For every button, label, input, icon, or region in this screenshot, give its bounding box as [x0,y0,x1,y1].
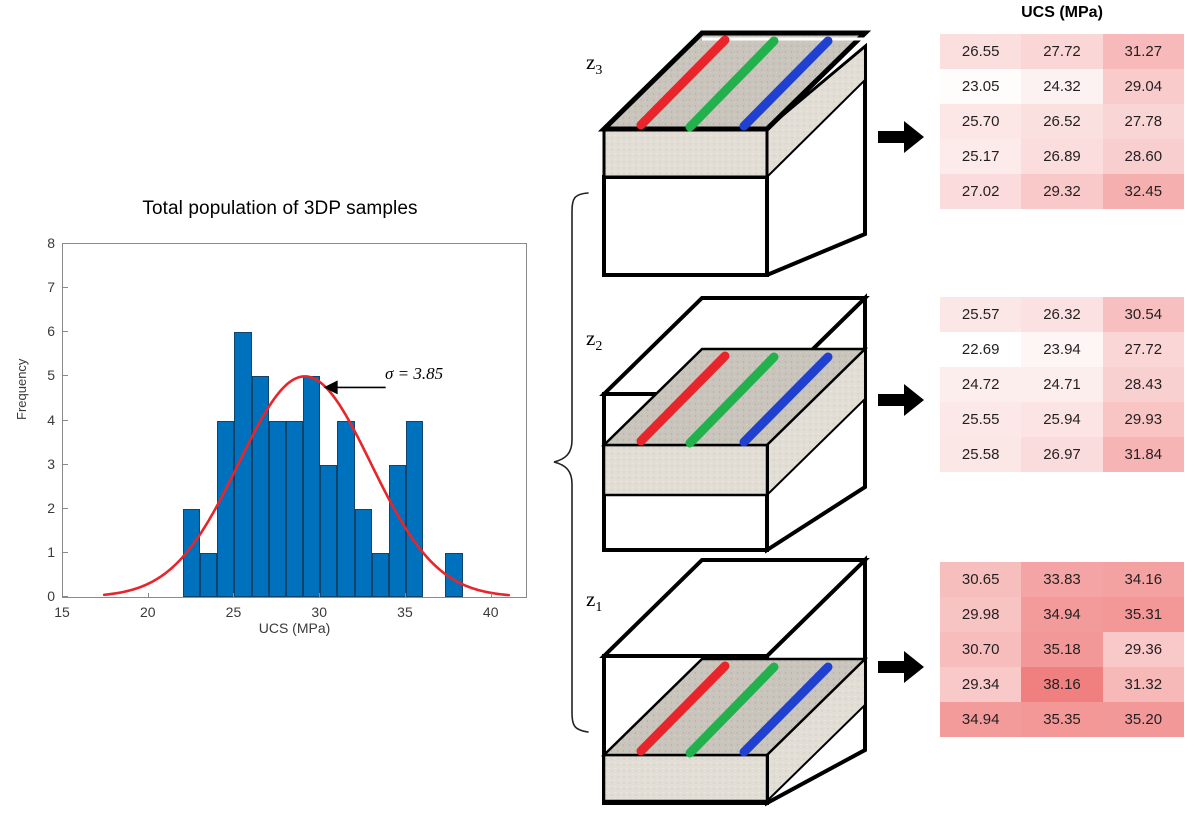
table-row: 34.9435.3535.20 [940,702,1184,737]
ucs-cell: 29.98 [940,597,1021,632]
y-tick-mark [63,508,68,509]
ucs-cell: 26.55 [940,34,1021,69]
x-tick-label: 35 [397,604,413,620]
ucs-cell: 23.05 [940,69,1021,104]
block-z1: z1 [580,545,900,820]
x-tick-mark [319,593,320,598]
ucs-cell: 34.94 [940,702,1021,737]
table-row: 22.6923.9427.72 [940,332,1184,367]
y-tick-label: 5 [27,367,55,383]
ucs-cell: 25.58 [940,437,1021,472]
ucs-cell: 29.32 [1021,174,1102,209]
x-tick-label: 20 [140,604,156,620]
flow-arrow-z3 [878,120,924,154]
x-tick-mark [62,593,63,598]
ucs-table-header: UCS (MPa) [940,4,1184,22]
table-row: 24.7224.7128.43 [940,367,1184,402]
table-row: 30.7035.1829.36 [940,632,1184,667]
table-row: 30.6533.8334.16 [940,562,1184,597]
ucs-cell: 38.16 [1021,667,1102,702]
y-tick-label: 0 [27,588,55,604]
table-row: 25.5726.3230.54 [940,297,1184,332]
table-row: 29.3438.1631.32 [940,667,1184,702]
y-tick-mark [63,331,68,332]
ucs-cell: 26.32 [1021,297,1102,332]
x-tick-mark [405,593,406,598]
ucs-cell: 25.55 [940,402,1021,437]
ucs-cell: 27.72 [1103,332,1184,367]
y-tick-mark [63,375,68,376]
ucs-cell: 26.52 [1021,104,1102,139]
sigma-value-label: σ = 3.85 [385,364,443,384]
ucs-cell: 29.04 [1103,69,1184,104]
ucs-cell: 31.32 [1103,667,1184,702]
table-row: 26.5527.7231.27 [940,34,1184,69]
ucs-cell: 25.70 [940,104,1021,139]
ucs-cell: 35.31 [1103,597,1184,632]
ucs-cell: 29.93 [1103,402,1184,437]
x-tick-label: 30 [311,604,327,620]
block-z3-label-text: z [586,50,595,74]
ucs-cell: 27.72 [1021,34,1102,69]
ucs-cell: 32.45 [1103,174,1184,209]
ucs-cell: 22.69 [940,332,1021,367]
y-tick-label: 2 [27,500,55,516]
ucs-table-z1: 30.6533.8334.1629.9834.9435.3130.7035.18… [940,562,1184,737]
sigma-annotation-arrow [63,244,526,597]
ucs-cell: 30.65 [940,562,1021,597]
block-z3-label-sub: 3 [595,63,602,78]
chart-title: Total population of 3DP samples [0,198,560,220]
x-tick-mark [233,593,234,598]
ucs-cell: 34.16 [1103,562,1184,597]
table-row: 27.0229.3232.45 [940,174,1184,209]
ucs-cell: 35.35 [1021,702,1102,737]
ucs-cell: 30.70 [940,632,1021,667]
block-z3-label: z3 [586,50,602,79]
ucs-cell: 31.27 [1103,34,1184,69]
y-tick-mark [63,243,68,244]
y-tick-mark [63,464,68,465]
table-row: 25.7026.5227.78 [940,104,1184,139]
ucs-cell: 28.60 [1103,139,1184,174]
block-z2-graphic [580,282,900,557]
table-row: 29.9834.9435.31 [940,597,1184,632]
flow-arrow-z2 [878,383,924,417]
y-tick-mark [63,287,68,288]
ucs-table-z2: 25.5726.3230.5422.6923.9427.7224.7224.71… [940,297,1184,472]
plot-area [62,243,527,598]
ucs-cell: 34.94 [1021,597,1102,632]
x-tick-label: 15 [54,604,70,620]
block-z3-graphic [580,2,900,277]
ucs-cell: 25.94 [1021,402,1102,437]
ucs-cell: 27.02 [940,174,1021,209]
table-row: 25.1726.8928.60 [940,139,1184,174]
table-row: 25.5525.9429.93 [940,402,1184,437]
block-z2-label: z2 [586,326,602,355]
y-tick-label: 8 [27,235,55,251]
x-tick-label: 40 [483,604,499,620]
ucs-cell: 33.83 [1021,562,1102,597]
ucs-cell: 28.43 [1103,367,1184,402]
block-z2-label-sub: 2 [595,339,602,354]
block-z3: z3 [580,2,900,277]
x-axis-label: UCS (MPa) [62,620,527,636]
block-z1-label-sub: 1 [595,600,602,615]
y-tick-label: 3 [27,456,55,472]
block-z2: z2 [580,282,900,557]
x-tick-label: 25 [226,604,242,620]
y-tick-mark [63,420,68,421]
ucs-cell: 25.57 [940,297,1021,332]
table-row: 23.0524.3229.04 [940,69,1184,104]
x-tick-mark [491,593,492,598]
y-tick-label: 4 [27,412,55,428]
ucs-cell: 27.78 [1103,104,1184,139]
flow-arrow-z1 [878,650,924,684]
ucs-cell: 24.71 [1021,367,1102,402]
ucs-cell: 29.36 [1103,632,1184,667]
ucs-cell: 26.97 [1021,437,1102,472]
ucs-cell: 24.72 [940,367,1021,402]
ucs-cell: 35.20 [1103,702,1184,737]
ucs-cell: 23.94 [1021,332,1102,367]
histogram-panel: Total population of 3DP samples Frequenc… [0,190,560,640]
ucs-cell: 25.17 [940,139,1021,174]
y-tick-mark [63,596,68,597]
ucs-table-z3: 26.5527.7231.2723.0524.3229.0425.7026.52… [940,34,1184,209]
block-z1-label-text: z [586,587,595,611]
y-tick-mark [63,552,68,553]
block-z1-label: z1 [586,587,602,616]
ucs-cell: 24.32 [1021,69,1102,104]
ucs-cell: 31.84 [1103,437,1184,472]
block-z1-graphic [580,545,900,820]
y-tick-label: 1 [27,544,55,560]
table-row: 25.5826.9731.84 [940,437,1184,472]
ucs-cell: 29.34 [940,667,1021,702]
ucs-cell: 30.54 [1103,297,1184,332]
y-tick-label: 6 [27,323,55,339]
x-tick-mark [148,593,149,598]
ucs-cell: 35.18 [1021,632,1102,667]
y-tick-label: 7 [27,279,55,295]
block-z2-label-text: z [586,326,595,350]
ucs-cell: 26.89 [1021,139,1102,174]
